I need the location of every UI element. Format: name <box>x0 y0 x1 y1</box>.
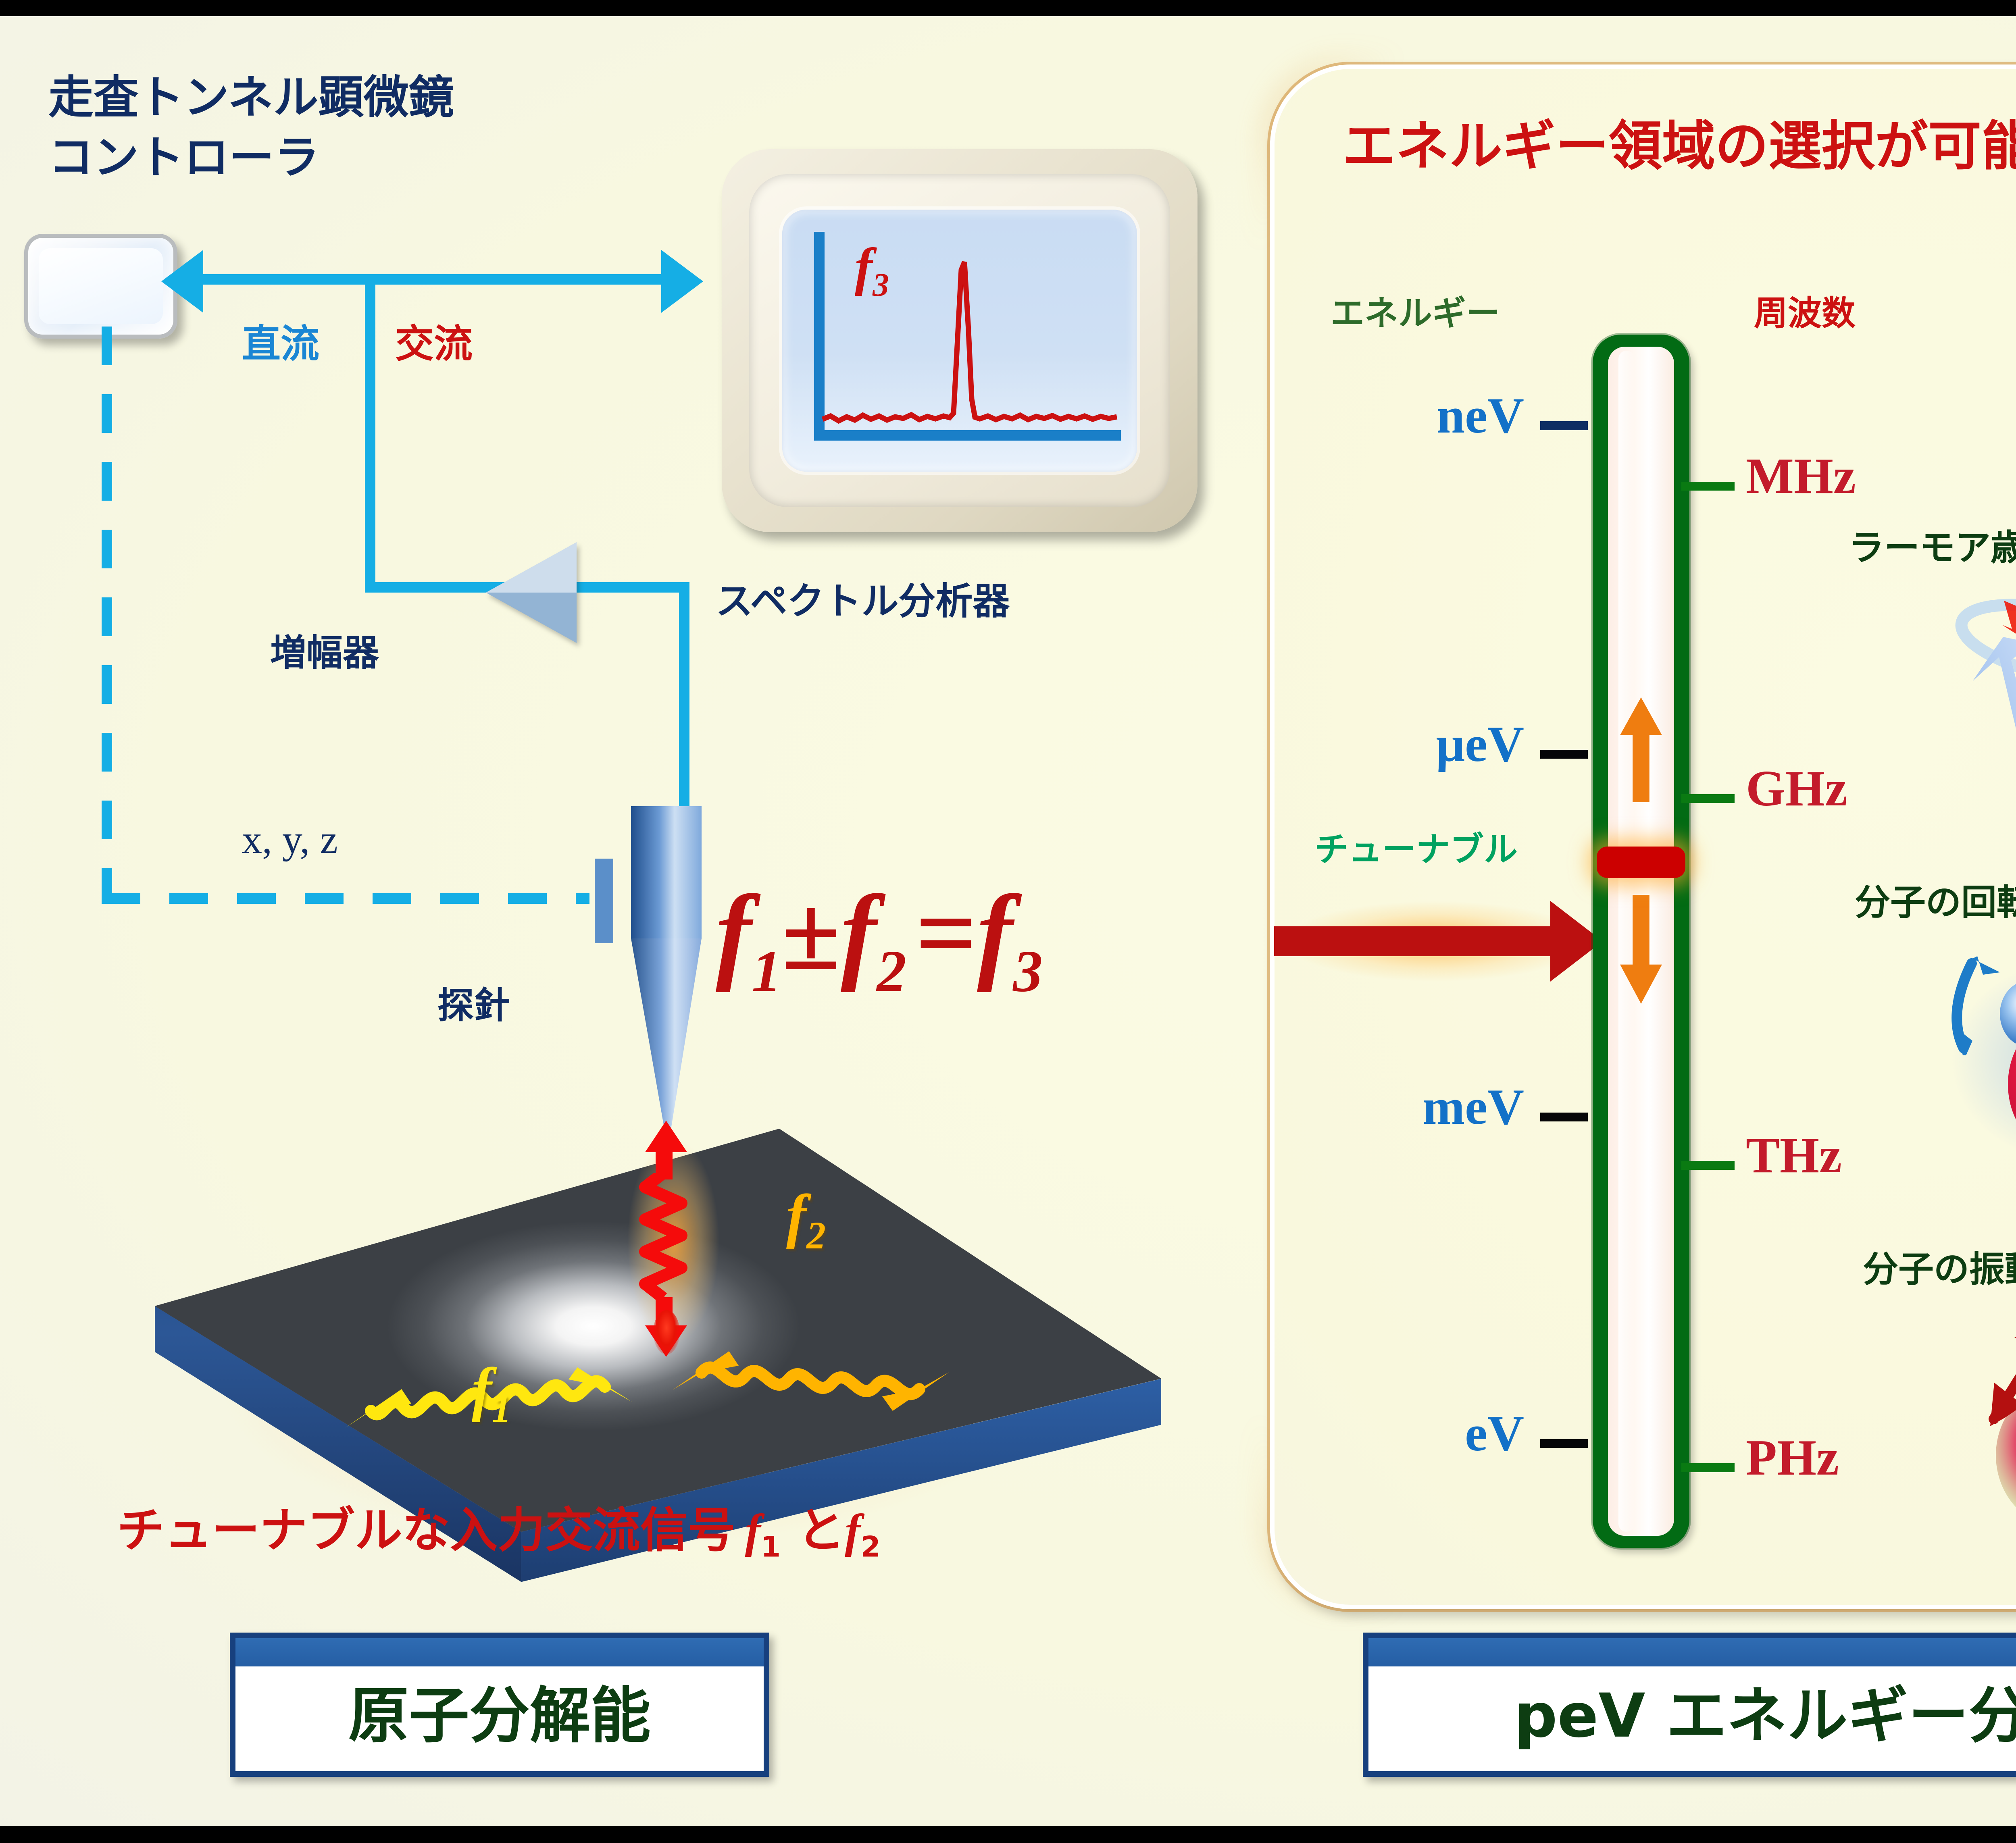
wire-dc-dashed-horizontal <box>102 893 589 904</box>
wire-ac-vertical <box>365 274 375 593</box>
tick-energy-0 <box>1540 421 1588 430</box>
energy-unit-0: neV <box>1363 387 1524 445</box>
label-spectrum-analyzer: スペクトル分析器 <box>716 580 1010 622</box>
frequency-unit-3: PHz <box>1746 1429 1839 1487</box>
tick-frequency-0 <box>1681 482 1735 491</box>
surface-wave-arrows <box>129 1129 1161 1556</box>
label-larmor-precession: ラーモア歳差運動 <box>1849 528 2016 568</box>
spectrum-analyzer-screen[interactable] <box>782 210 1137 472</box>
stm-controller-title: 走査トンネル顕微鏡 コントローラ <box>48 73 454 183</box>
frequency-unit-0: MHz <box>1746 447 1856 505</box>
molecular-rotation-illustration <box>1911 927 2016 1225</box>
energy-scale-highlight <box>1618 351 1635 1532</box>
bottom-box-atomic-resolution[interactable]: 原子分解能 <box>230 1633 769 1777</box>
capbox-left-bar <box>235 1638 764 1666</box>
mixing-formula: f1±f2 =f3 <box>716 871 1043 1005</box>
tick-energy-1 <box>1540 750 1588 759</box>
label-amplifier: 増幅器 <box>270 633 379 674</box>
left-caption: チューナブルな入力交流信号 f1 とf2 <box>117 1504 881 1563</box>
probe-mount <box>595 859 613 943</box>
capbox-right-text: peV エネルギー分解能 <box>1368 1666 2016 1766</box>
arrow-to-analyzer-icon <box>661 250 703 313</box>
molecular-vibration-illustration <box>1919 1298 2016 1556</box>
right-panel-title: エネルギー領域の選択が可能 <box>1343 117 2016 177</box>
wire-dc-dashed-vertical <box>102 327 112 903</box>
probe-tip-icon <box>631 938 702 1132</box>
larmor-precession-illustration <box>1911 572 2016 855</box>
spectrum-peak-label: f3 <box>855 236 889 304</box>
label-ac: 交流 <box>395 322 473 366</box>
arrow-to-controller-icon <box>161 250 203 313</box>
wire-ac-horizontal <box>173 274 669 285</box>
label-tunable: チューナブル <box>1314 830 1518 868</box>
tick-energy-3 <box>1540 1439 1588 1448</box>
bottom-box-pev-resolution[interactable]: peV エネルギー分解能 <box>1363 1633 2016 1777</box>
energy-unit-3: eV <box>1363 1405 1524 1463</box>
selection-arrow-stem <box>1274 926 1564 956</box>
label-molecular-vibration: 分子の振動運動 <box>1863 1250 2016 1290</box>
label-f1: f1 <box>472 1354 511 1431</box>
probe-body <box>631 806 702 939</box>
tick-frequency-2 <box>1681 1161 1735 1170</box>
label-dc: 直流 <box>242 322 319 366</box>
tick-energy-2 <box>1540 1113 1588 1121</box>
stm-title-line2: コントローラ <box>48 133 454 183</box>
wire-to-probe <box>679 582 689 840</box>
wire-amp-out <box>577 582 689 593</box>
capbox-right-bar <box>1368 1638 2016 1666</box>
label-probe: 探針 <box>437 986 510 1026</box>
label-xyz: x, y, z <box>242 816 338 863</box>
stm-title-line1: 走査トンネル顕微鏡 <box>48 73 454 123</box>
capbox-left-text: 原子分解能 <box>235 1666 764 1766</box>
stm-controller-box[interactable] <box>24 234 177 339</box>
label-f2: f2 <box>786 1181 826 1258</box>
selected-energy-band[interactable] <box>1597 847 1685 878</box>
frequency-unit-2: THz <box>1746 1127 1842 1185</box>
energy-unit-2: meV <box>1363 1078 1524 1136</box>
label-frequency-axis: 周波数 <box>1754 294 1856 332</box>
energy-unit-1: μeV <box>1363 716 1524 774</box>
frequency-unit-1: GHz <box>1746 760 1847 818</box>
label-molecular-rotation: 分子の回転運動 <box>1855 883 2016 923</box>
tick-frequency-1 <box>1681 794 1735 803</box>
tick-frequency-3 <box>1681 1463 1735 1472</box>
label-energy-axis: エネルギー <box>1331 294 1500 332</box>
